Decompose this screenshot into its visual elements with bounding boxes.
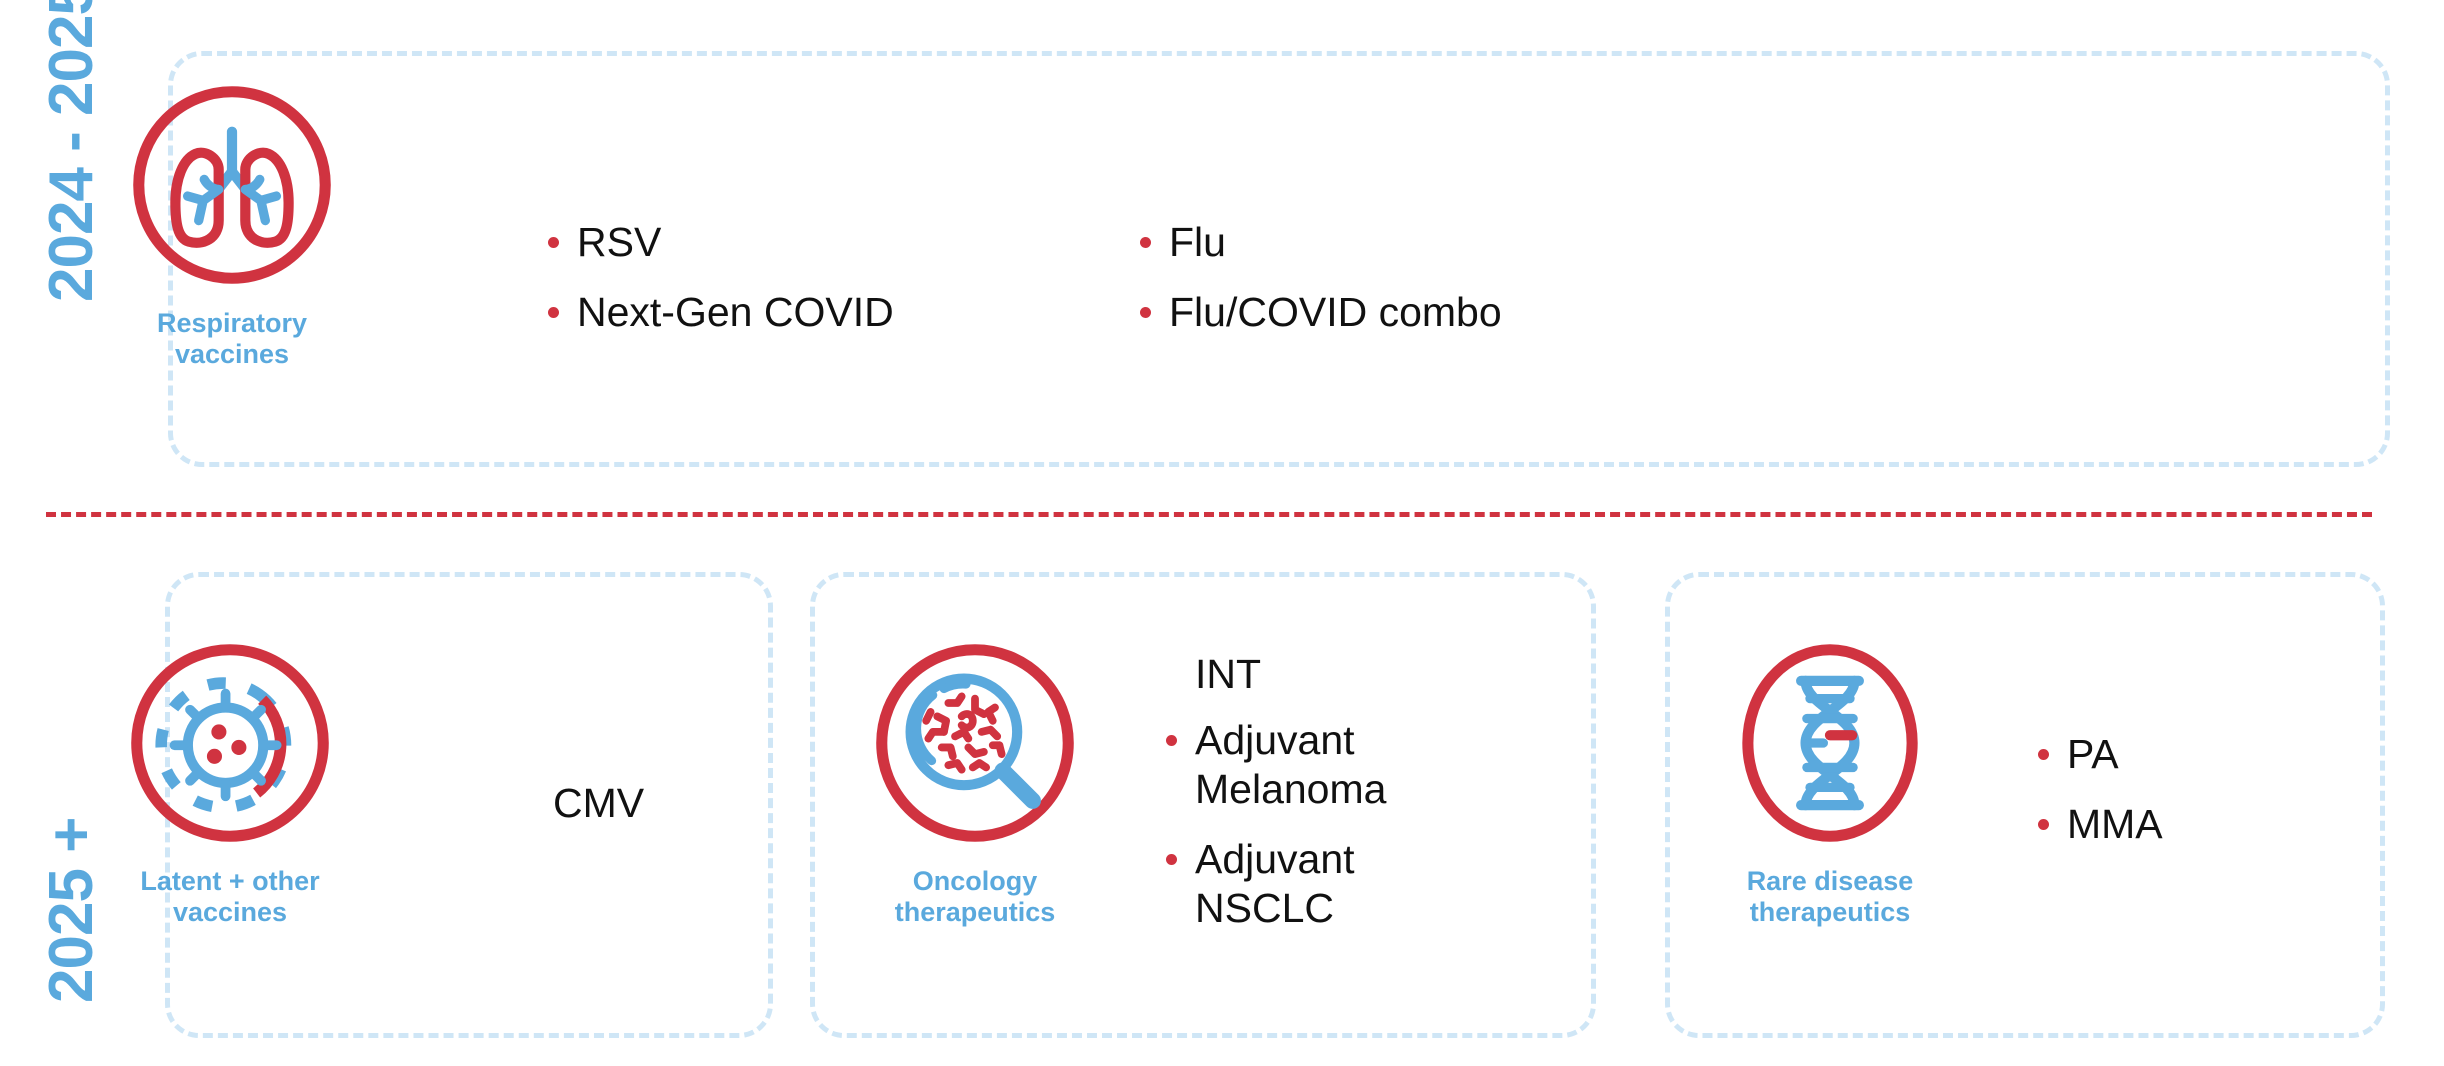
list-item: Flu: [1140, 218, 1502, 266]
bullet-dot-icon: [1140, 307, 1151, 318]
list-item-label: Flu/COVID combo: [1169, 288, 1502, 336]
bullet-list-oncology: INT Adjuvant Melanoma Adjuvant NSCLC: [1166, 650, 1386, 932]
lungs-icon: [121, 74, 343, 296]
magnifier-virus-icon: [864, 632, 1086, 854]
section-divider: [46, 512, 2372, 517]
virus-target-icon: [119, 632, 341, 854]
icon-block-latent: Latent + other vaccines: [115, 632, 345, 928]
list-item: MMA: [2038, 800, 2163, 848]
bullet-dot-icon: [1166, 854, 1177, 865]
list-item: RSV: [548, 218, 894, 266]
list-item: Adjuvant Melanoma: [1166, 716, 1386, 813]
icon-caption-oncology: Oncology therapeutics: [860, 866, 1090, 928]
bullet-dot-icon: [2038, 819, 2049, 830]
list-item: PA: [2038, 730, 2163, 778]
list-item: Flu/COVID combo: [1140, 288, 1502, 336]
icon-block-rare-disease: Rare disease therapeutics: [1715, 632, 1945, 928]
bullet-dot-icon: [2038, 749, 2049, 760]
icon-caption-rare-disease: Rare disease therapeutics: [1715, 866, 1945, 928]
list-item: Adjuvant NSCLC: [1166, 835, 1386, 932]
icon-block-respiratory: Respiratory vaccines: [117, 74, 347, 370]
list-item-label: RSV: [577, 218, 661, 266]
latent-indication-cmv: CMV: [553, 780, 644, 827]
icon-block-oncology: Oncology therapeutics: [860, 632, 1090, 928]
oncology-group-title: INT: [1195, 650, 1386, 698]
list-item-label: Adjuvant NSCLC: [1195, 835, 1355, 932]
icon-caption-latent: Latent + other vaccines: [115, 866, 345, 928]
list-item-label: Adjuvant Melanoma: [1195, 716, 1386, 813]
bullet-dot-icon: [1140, 237, 1151, 248]
list-item-label: Next-Gen COVID: [577, 288, 894, 336]
era-label-2025-plus: 2025 +: [36, 818, 107, 1003]
dna-icon: [1719, 632, 1941, 854]
icon-caption-respiratory: Respiratory vaccines: [117, 308, 347, 370]
list-item: Next-Gen COVID: [548, 288, 894, 336]
bullet-dot-icon: [1166, 735, 1177, 746]
era-label-2024-2025: 2024 - 2025: [36, 0, 107, 302]
bullet-list-respiratory-col2: Flu Flu/COVID combo: [1140, 218, 1502, 337]
bullet-list-rare-disease: PA MMA: [2038, 730, 2163, 849]
list-item-label: Flu: [1169, 218, 1226, 266]
bullet-dot-icon: [548, 237, 559, 248]
list-item-label: PA: [2067, 730, 2119, 778]
bullet-list-respiratory-col1: RSV Next-Gen COVID: [548, 218, 894, 337]
bullet-dot-icon: [548, 307, 559, 318]
list-item-label: MMA: [2067, 800, 2163, 848]
pipeline-timeline-graphic: 2024 - 2025 2025 + Respiratory vaccines …: [0, 0, 2444, 1066]
